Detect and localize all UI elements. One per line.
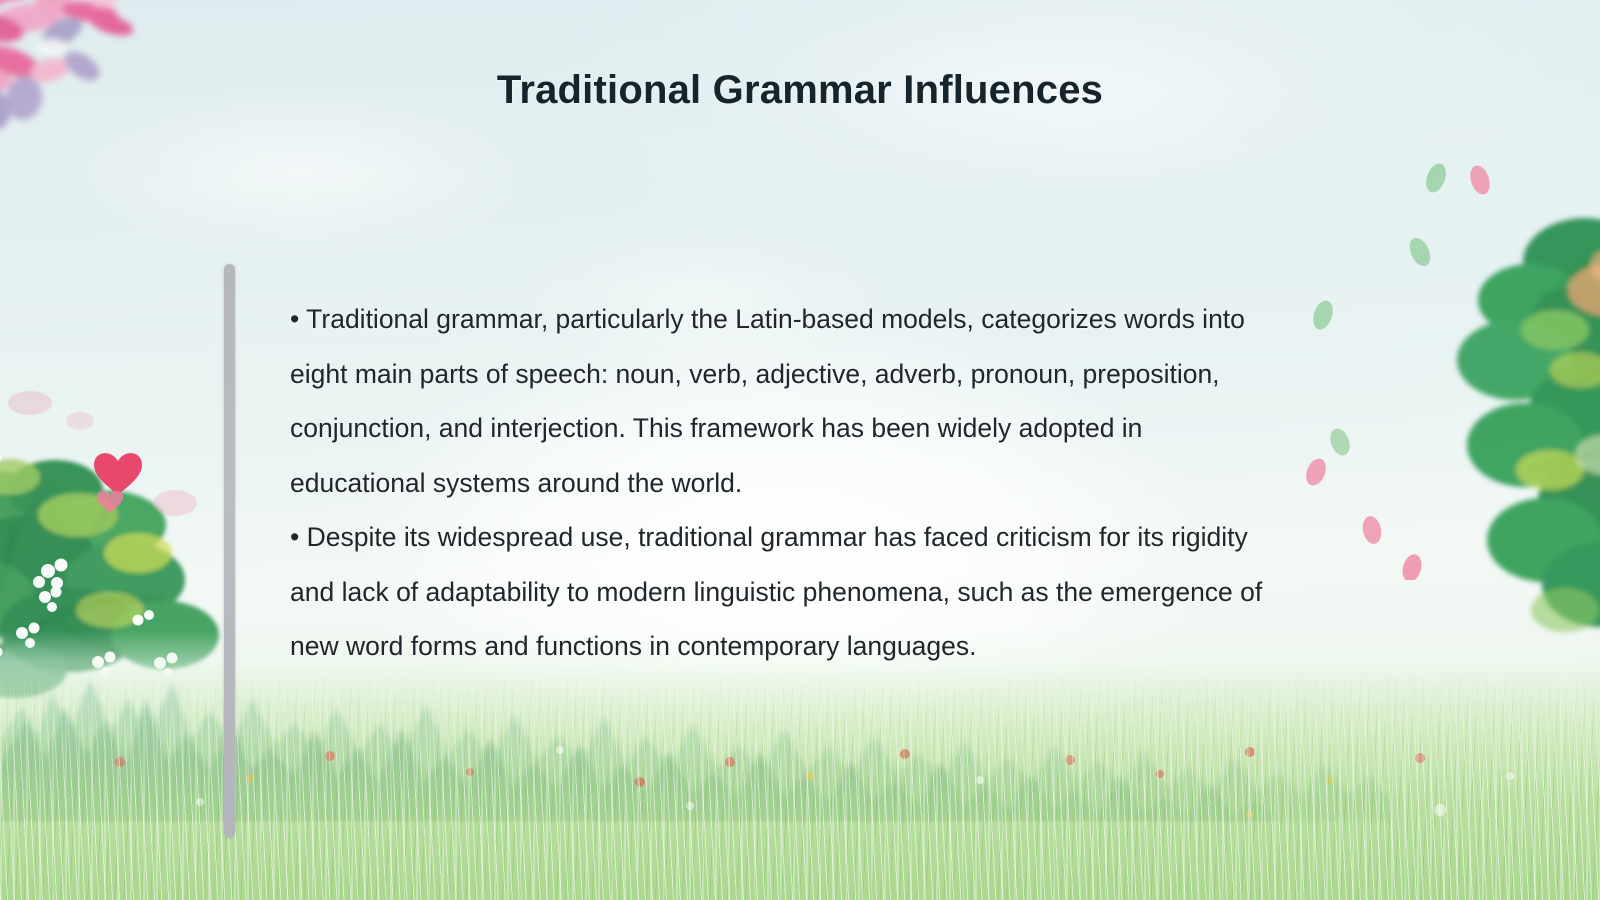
bullet-text: Traditional grammar, particularly the La… xyxy=(290,304,1245,498)
grass-texture xyxy=(0,670,1600,900)
bullet-item: • Despite its widespread use, traditiona… xyxy=(290,510,1268,674)
bullet-text: Despite its widespread use, traditional … xyxy=(290,522,1262,661)
page-title: Traditional Grammar Influences xyxy=(0,68,1600,113)
bullet-marker-icon: • xyxy=(290,522,299,552)
bullet-marker-icon: • xyxy=(290,304,299,334)
blossoming-tree-icon xyxy=(0,385,260,745)
blossom-flowers xyxy=(0,452,178,679)
slide-canvas: Traditional Grammar Influences • Traditi… xyxy=(0,0,1600,900)
vertical-accent-bar xyxy=(224,264,235,838)
content-body: • Traditional grammar, particularly the … xyxy=(290,292,1268,674)
meadow-flower-icon xyxy=(0,710,1600,860)
green-tree-icon xyxy=(1350,170,1600,640)
falling-leaf-and-petal-icon xyxy=(1280,150,1520,580)
bullet-item: • Traditional grammar, particularly the … xyxy=(290,292,1268,510)
heart-icon xyxy=(94,453,142,513)
